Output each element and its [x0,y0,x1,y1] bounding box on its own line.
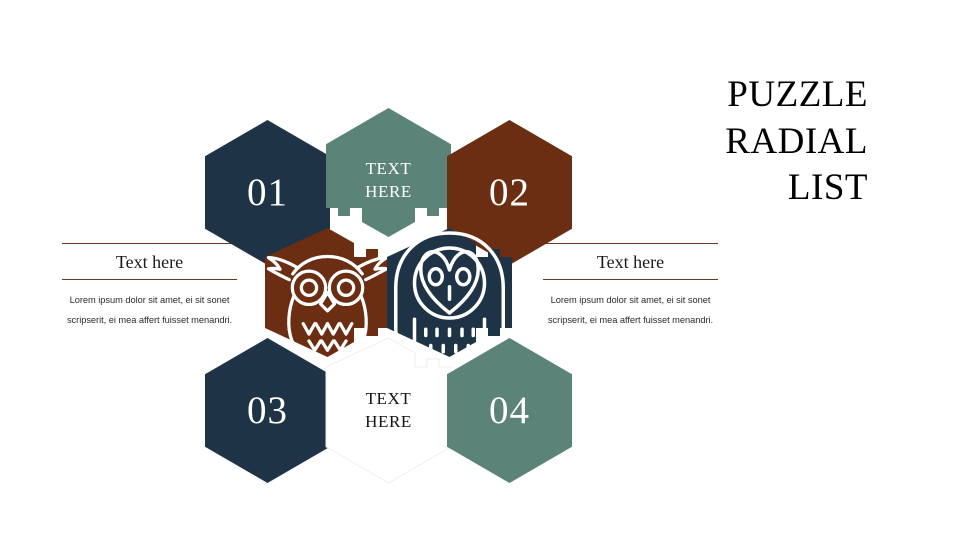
hex-bottom-text-shape [326,338,451,483]
hex-03-shape [205,338,330,483]
hexagon-puzzle-diagram: 01 TEXTHERE 02 [205,108,575,473]
hex-03[interactable]: 03 [205,338,330,483]
title-line-3: LIST [568,165,868,212]
hex-04-shape [447,338,572,483]
hex-bottom-text[interactable]: TEXTHERE [326,338,451,483]
title-line-1: PUZZLE [568,72,868,119]
page-title: PUZZLE RADIAL LIST [568,72,868,212]
title-line-2: RADIAL [568,119,868,166]
hex-04[interactable]: 04 [447,338,572,483]
slide-canvas: PUZZLE RADIAL LIST Text here Lorem ipsum… [0,0,960,540]
